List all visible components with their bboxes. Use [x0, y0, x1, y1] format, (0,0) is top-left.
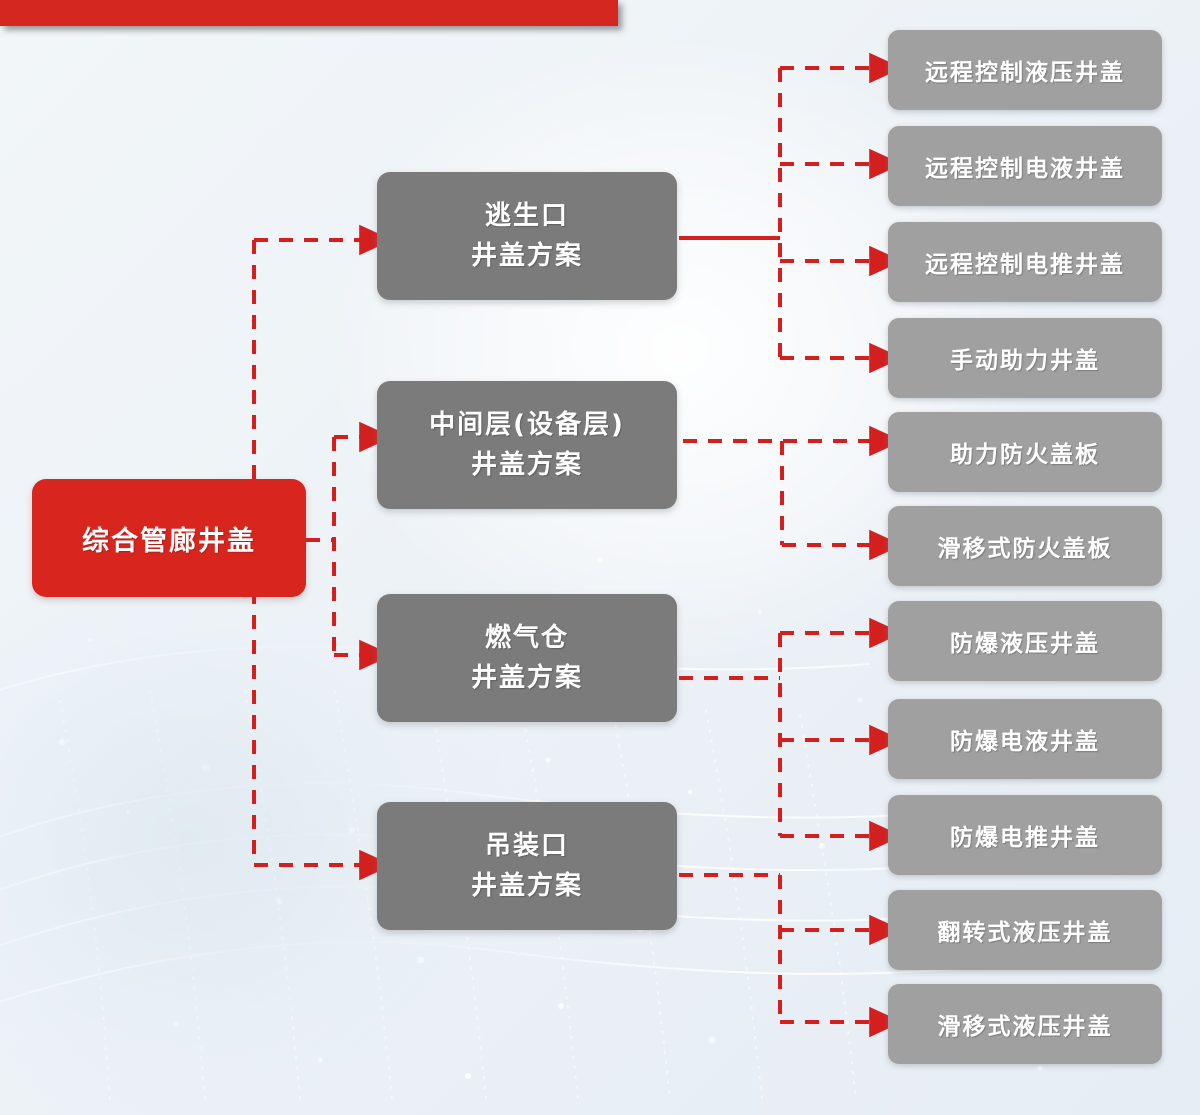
- branch-node-hoisting-port-line1: 吊装口: [485, 826, 569, 866]
- branch-node-escape-port-line2: 井盖方案: [471, 236, 583, 276]
- leaf-node-explosion-proof-hydraulic-manhole[interactable]: 防爆液压井盖: [888, 601, 1162, 681]
- branch-node-middle-equipment-layer-line2: 井盖方案: [471, 445, 583, 485]
- leaf-node-label: 助力防火盖板: [950, 435, 1100, 469]
- branch-node-hoisting-port-line2: 井盖方案: [471, 866, 583, 906]
- leaf-node-assist-fireproof-cover-plate[interactable]: 助力防火盖板: [888, 412, 1162, 492]
- leaf-node-label: 滑移式防火盖板: [938, 529, 1113, 563]
- leaf-node-label: 手动助力井盖: [950, 341, 1100, 375]
- diagram-canvas: 综合管廊井盖 逃生口 井盖方案 远程控制液压井盖 远程控制电液井盖 远程控制电推…: [0, 0, 1200, 1115]
- leaf-node-sliding-type-hydraulic-manhole[interactable]: 滑移式液压井盖: [888, 984, 1162, 1064]
- branch-node-middle-equipment-layer[interactable]: 中间层(设备层) 井盖方案: [377, 381, 677, 509]
- branch-node-hoisting-port[interactable]: 吊装口 井盖方案: [377, 802, 677, 930]
- leaf-node-label: 防爆液压井盖: [950, 624, 1100, 658]
- branch-node-gas-chamber-line2: 井盖方案: [471, 658, 583, 698]
- leaf-node-remote-electric-push-manhole[interactable]: 远程控制电推井盖: [888, 222, 1162, 302]
- leaf-node-label: 远程控制电液井盖: [925, 149, 1125, 183]
- leaf-node-remote-electro-hydraulic-manhole[interactable]: 远程控制电液井盖: [888, 126, 1162, 206]
- leaf-node-manual-assist-manhole[interactable]: 手动助力井盖: [888, 318, 1162, 398]
- leaf-node-label: 防爆电推井盖: [950, 818, 1100, 852]
- root-node-comprehensive-pipe-gallery-manhole[interactable]: 综合管廊井盖: [32, 479, 306, 597]
- leaf-node-explosion-proof-electro-hydraulic-manhole[interactable]: 防爆电液井盖: [888, 699, 1162, 779]
- leaf-node-label: 远程控制电推井盖: [925, 245, 1125, 279]
- leaf-node-sliding-fireproof-cover-plate[interactable]: 滑移式防火盖板: [888, 506, 1162, 586]
- branch-node-escape-port[interactable]: 逃生口 井盖方案: [377, 172, 677, 300]
- leaf-node-flip-type-hydraulic-manhole[interactable]: 翻转式液压井盖: [888, 890, 1162, 970]
- branch-node-gas-chamber-line1: 燃气仓: [485, 618, 569, 658]
- root-node-label: 综合管廊井盖: [82, 519, 256, 558]
- leaf-node-label: 远程控制液压井盖: [925, 53, 1125, 87]
- leaf-node-label: 滑移式液压井盖: [938, 1007, 1113, 1041]
- branch-node-gas-chamber[interactable]: 燃气仓 井盖方案: [377, 594, 677, 722]
- leaf-node-label: 防爆电液井盖: [950, 722, 1100, 756]
- leaf-node-remote-hydraulic-manhole[interactable]: 远程控制液压井盖: [888, 30, 1162, 110]
- branch-node-escape-port-line1: 逃生口: [485, 196, 569, 236]
- leaf-node-explosion-proof-electric-push-manhole[interactable]: 防爆电推井盖: [888, 795, 1162, 875]
- branch-node-middle-equipment-layer-line1: 中间层(设备层): [429, 405, 625, 445]
- leaf-node-label: 翻转式液压井盖: [938, 913, 1113, 947]
